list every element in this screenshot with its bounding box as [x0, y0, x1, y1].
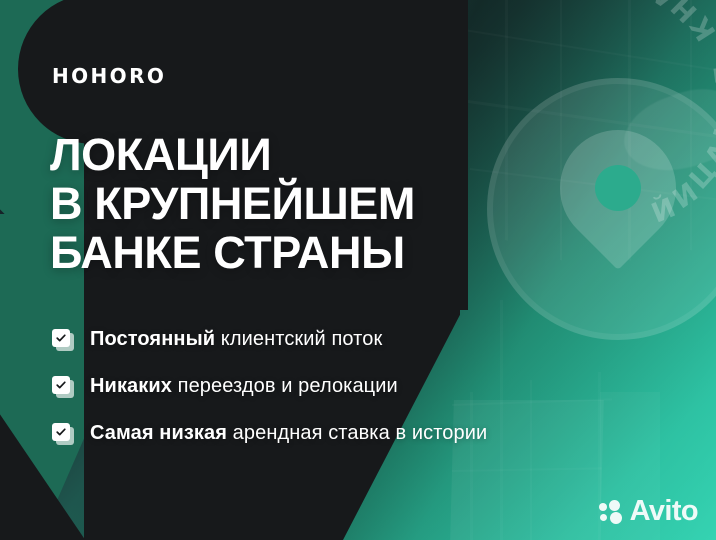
promo-banner: БАНК ЛОКАЦИЙ HOHORO ЛОКАЦИИ В КРУПНЕЙШЕМ…	[0, 0, 716, 540]
checkbox-checked-icon	[52, 329, 74, 351]
headline-line-3: БАНКЕ СТРАНЫ	[50, 228, 415, 277]
checkbox-checked-icon	[52, 423, 74, 445]
list-item-rest: переездов и релокации	[172, 375, 398, 397]
brand-logo: HOHORO	[52, 64, 166, 88]
benefits-list: Постоянный клиентский поток Никаких пере…	[52, 328, 487, 445]
list-item: Никаких переездов и релокации	[52, 375, 487, 398]
list-item-label: Постоянный клиентский поток	[90, 328, 382, 351]
list-item: Постоянный клиентский поток	[52, 328, 487, 351]
list-item-bold: Самая низкая	[90, 422, 227, 444]
checkbox-checked-icon	[52, 376, 74, 398]
headline-line-2: В КРУПНЕЙШЕМ	[50, 179, 415, 228]
avito-dots-icon	[599, 500, 625, 524]
avito-wordmark: Avito	[630, 497, 698, 526]
list-item-label: Самая низкая арендная ставка в истории	[90, 422, 487, 445]
headline-line-1: ЛОКАЦИИ	[50, 130, 415, 179]
list-item: Самая низкая арендная ставка в истории	[52, 422, 487, 445]
avito-watermark: Avito	[599, 497, 698, 526]
list-item-rest: арендная ставка в истории	[227, 422, 487, 444]
banner-content: HOHORO ЛОКАЦИИ В КРУПНЕЙШЕМ БАНКЕ СТРАНЫ…	[0, 0, 716, 540]
list-item-bold: Никаких	[90, 375, 172, 397]
list-item-bold: Постоянный	[90, 328, 215, 350]
page-title: ЛОКАЦИИ В КРУПНЕЙШЕМ БАНКЕ СТРАНЫ	[50, 130, 415, 277]
list-item-label: Никаких переездов и релокации	[90, 375, 398, 398]
list-item-rest: клиентский поток	[215, 328, 382, 350]
